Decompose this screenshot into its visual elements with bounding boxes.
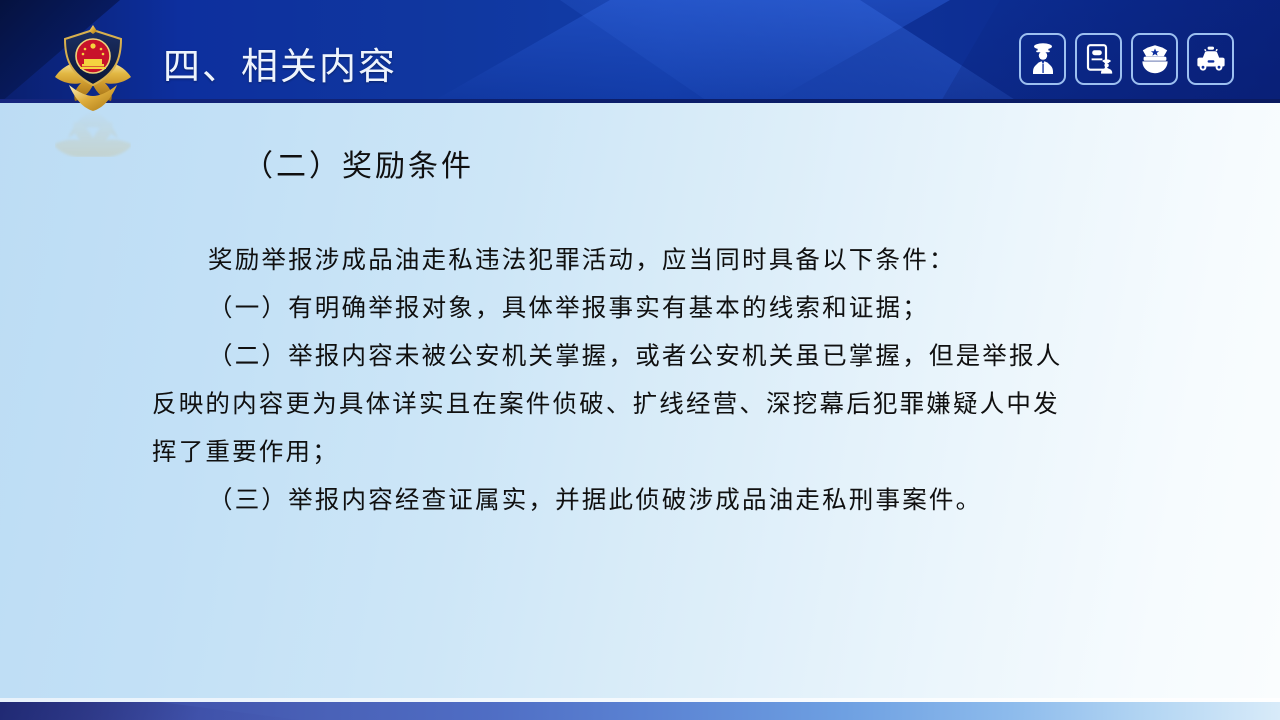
- police-cap-icon: [1139, 44, 1171, 74]
- header-facet-center: [430, 0, 950, 103]
- slide-root: 四、相关内容: [0, 0, 1280, 720]
- police-car-icon: [1195, 46, 1227, 72]
- body-line: （三）举报内容经查证属实，并据此侦破涉成品油走私刑事案件。: [152, 476, 1124, 524]
- body-line: 反映的内容更为具体详实且在案件侦破、扩线经营、深挖幕后犯罪嫌疑人中发: [152, 380, 1124, 428]
- police-officer-icon: [1028, 42, 1058, 76]
- header-icon-group: [1019, 33, 1234, 85]
- body-line: （二）举报内容未被公安机关掌握，或者公安机关虽已掌握，但是举报人: [152, 332, 1124, 380]
- footer-band: [0, 702, 1280, 720]
- police-car-icon-button[interactable]: [1187, 33, 1234, 85]
- police-officer-icon-button[interactable]: [1019, 33, 1066, 85]
- body-line: 奖励举报涉成品油走私违法犯罪活动，应当同时具备以下条件：: [152, 236, 1124, 284]
- china-police-badge-emblem: [47, 23, 139, 143]
- section-heading: （二）奖励条件: [243, 141, 474, 185]
- body-line: （一）有明确举报对象，具体举报事实有基本的线索和证据；: [152, 284, 1124, 332]
- police-badge-icon: [47, 23, 139, 115]
- body-line: 挥了重要作用；: [152, 428, 1124, 476]
- emblem-reflection: [55, 109, 131, 157]
- header-bottom-edge: [0, 99, 1280, 103]
- police-service-window-icon: [1084, 42, 1114, 76]
- page-title: 四、相关内容: [163, 36, 397, 90]
- police-service-window-icon-button[interactable]: [1075, 33, 1122, 85]
- header-facet-center-right: [560, 0, 1020, 103]
- police-cap-icon-button[interactable]: [1131, 33, 1178, 85]
- body-text-block: 奖励举报涉成品油走私违法犯罪活动，应当同时具备以下条件： （一）有明确举报对象，…: [152, 236, 1124, 524]
